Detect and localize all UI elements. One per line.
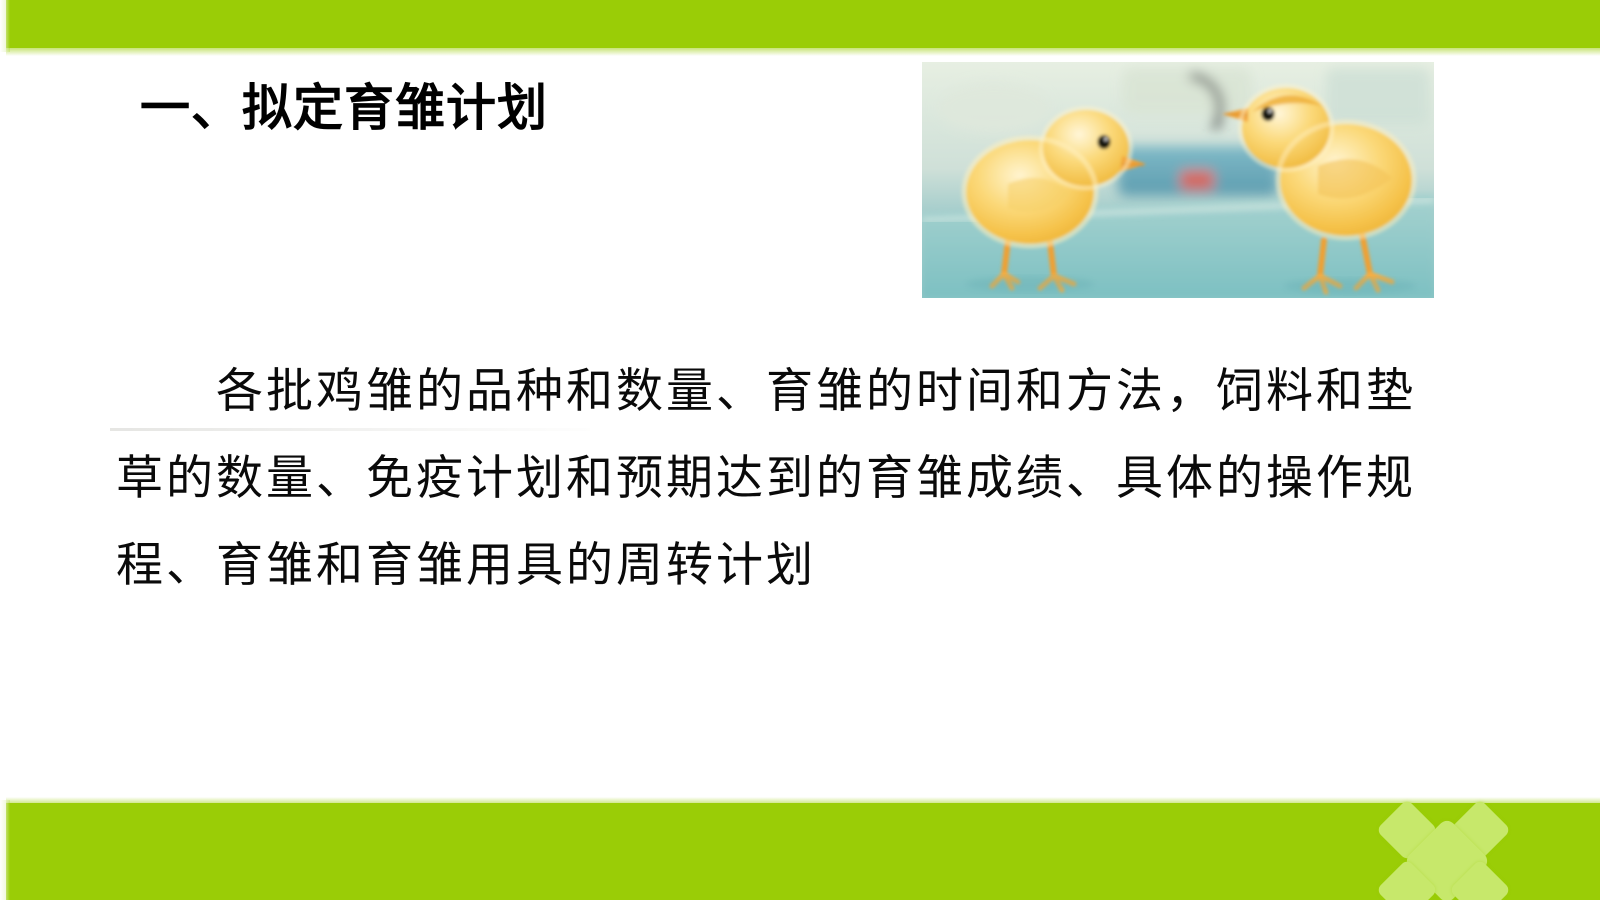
body-paragraph: 各批鸡雏的品种和数量、育雏的时间和方法，饲料和垫草的数量、免疫计划和预期达到的育… bbox=[116, 348, 1446, 609]
diamond-cluster-ornament bbox=[1372, 812, 1522, 900]
top-band-fade bbox=[6, 48, 1600, 56]
bottom-green-band bbox=[6, 803, 1600, 900]
photo-clip bbox=[922, 62, 1434, 298]
two-yellow-chicks-photo bbox=[922, 62, 1434, 298]
slide-canvas: 一、拟定育雏计划 bbox=[0, 0, 1600, 900]
chicks-illustration bbox=[922, 62, 1434, 298]
page-title: 一、拟定育雏计划 bbox=[140, 78, 548, 138]
top-green-band bbox=[6, 0, 1600, 48]
